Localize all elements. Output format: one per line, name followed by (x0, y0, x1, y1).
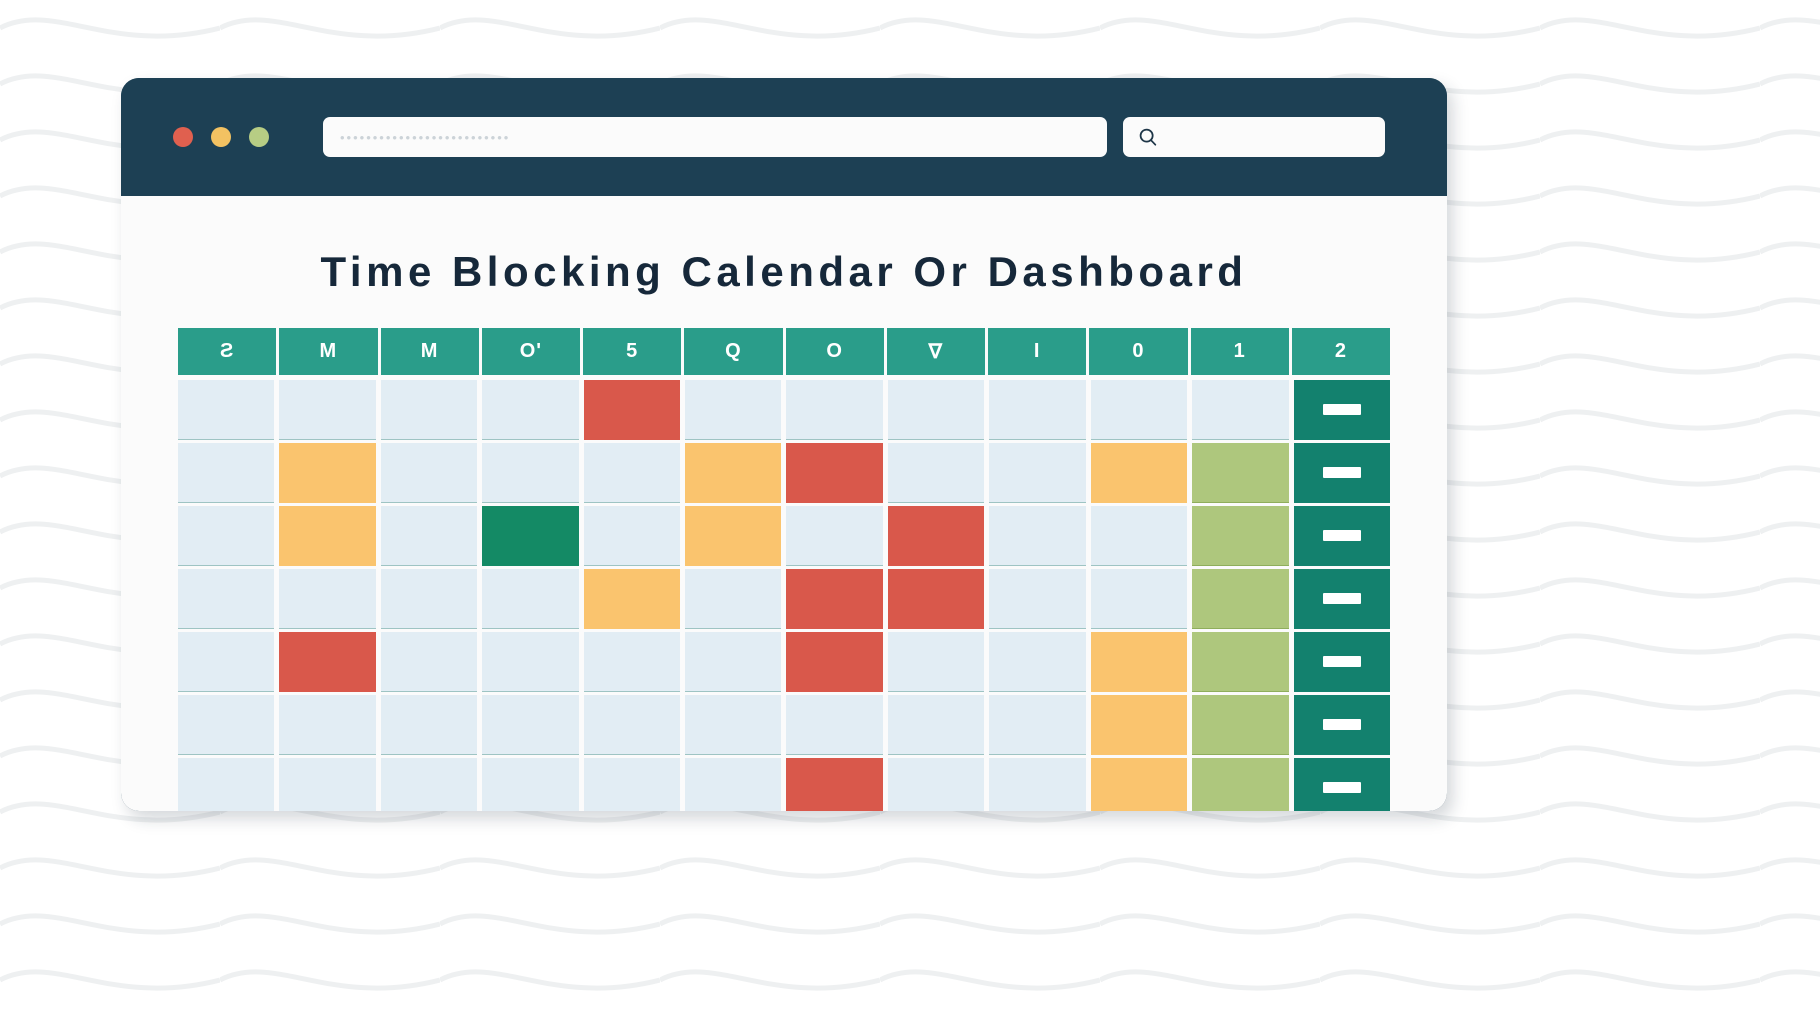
calendar-cell-r3-c9[interactable] (1091, 569, 1187, 629)
calendar-cell-r1-c7[interactable] (888, 443, 984, 503)
calendar-header-cell-3[interactable]: O' (482, 328, 580, 375)
calendar-cell-r4-c4[interactable] (584, 632, 680, 692)
calendar-cell-r0-c4[interactable] (584, 380, 680, 440)
calendar-header-cell-10[interactable]: 1 (1191, 328, 1289, 375)
calendar-cell-r6-c11[interactable] (1294, 758, 1390, 811)
calendar-header-cell-1[interactable]: M (279, 328, 377, 375)
calendar-cell-r0-c8[interactable] (989, 380, 1085, 440)
calendar-cell-r6-c6[interactable] (786, 758, 882, 811)
calendar-cell-r4-c0[interactable] (178, 632, 274, 692)
calendar-cell-r1-c11[interactable] (1294, 443, 1390, 503)
calendar-header-cell-4[interactable]: 5 (583, 328, 681, 375)
calendar-cell-r6-c4[interactable] (584, 758, 680, 811)
calendar-cell-r0-c7[interactable] (888, 380, 984, 440)
calendar-cell-r2-c0[interactable] (178, 506, 274, 566)
calendar-cell-r5-c10[interactable] (1192, 695, 1288, 755)
calendar-cell-r3-c1[interactable] (279, 569, 375, 629)
calendar-cell-r2-c10[interactable] (1192, 506, 1288, 566)
calendar-cell-r6-c0[interactable] (178, 758, 274, 811)
calendar-cell-r1-c6[interactable] (786, 443, 882, 503)
calendar-cell-r3-c7[interactable] (888, 569, 984, 629)
url-input[interactable]: •••••••••••••••••••••••••• (323, 117, 1107, 157)
calendar-cell-r1-c4[interactable] (584, 443, 680, 503)
calendar-cell-r0-c9[interactable] (1091, 380, 1187, 440)
calendar-cell-r0-c3[interactable] (482, 380, 578, 440)
teal-marker-dash (1323, 404, 1361, 415)
calendar-cell-r4-c6[interactable] (786, 632, 882, 692)
calendar-cell-r5-c5[interactable] (685, 695, 781, 755)
calendar-cell-r6-c3[interactable] (482, 758, 578, 811)
calendar-cell-r4-c8[interactable] (989, 632, 1085, 692)
maximize-window-button[interactable] (249, 127, 269, 147)
time-blocking-calendar: ƧMMO'5QO∇I012 (178, 328, 1390, 811)
calendar-cell-r0-c5[interactable] (685, 380, 781, 440)
calendar-cell-r3-c10[interactable] (1192, 569, 1288, 629)
calendar-cell-r5-c6[interactable] (786, 695, 882, 755)
calendar-header-cell-9[interactable]: 0 (1089, 328, 1187, 375)
calendar-cell-r3-c6[interactable] (786, 569, 882, 629)
browser-window: •••••••••••••••••••••••••• Time Blocking… (121, 78, 1447, 811)
calendar-cell-r0-c11[interactable] (1294, 380, 1390, 440)
calendar-cell-r6-c8[interactable] (989, 758, 1085, 811)
calendar-cell-r5-c11[interactable] (1294, 695, 1390, 755)
calendar-cell-r1-c9[interactable] (1091, 443, 1187, 503)
page-title: Time Blocking Calendar Or Dashboard (173, 248, 1395, 296)
calendar-cell-r2-c6[interactable] (786, 506, 882, 566)
calendar-cell-r3-c11[interactable] (1294, 569, 1390, 629)
calendar-cell-r2-c8[interactable] (989, 506, 1085, 566)
calendar-cell-r6-c2[interactable] (381, 758, 477, 811)
calendar-cell-r4-c7[interactable] (888, 632, 984, 692)
calendar-cell-r1-c3[interactable] (482, 443, 578, 503)
calendar-cell-r2-c5[interactable] (685, 506, 781, 566)
teal-marker-dash (1323, 593, 1361, 604)
calendar-cell-r2-c7[interactable] (888, 506, 984, 566)
calendar-column-headers: ƧMMO'5QO∇I012 (178, 328, 1390, 375)
url-placeholder-text: •••••••••••••••••••••••••• (340, 130, 510, 145)
calendar-cell-r4-c2[interactable] (381, 632, 477, 692)
calendar-cell-r1-c2[interactable] (381, 443, 477, 503)
page-content: Time Blocking Calendar Or Dashboard ƧMMO… (121, 196, 1447, 811)
calendar-header-cell-11[interactable]: 2 (1292, 328, 1390, 375)
calendar-cell-r6-c5[interactable] (685, 758, 781, 811)
calendar-cell-r2-c3[interactable] (482, 506, 578, 566)
teal-marker-dash (1323, 782, 1361, 793)
calendar-cell-r3-c8[interactable] (989, 569, 1085, 629)
calendar-header-cell-2[interactable]: M (381, 328, 479, 375)
traffic-light-buttons (173, 127, 269, 147)
calendar-cell-r2-c1[interactable] (279, 506, 375, 566)
calendar-cell-r5-c4[interactable] (584, 695, 680, 755)
teal-marker-dash (1323, 530, 1361, 541)
calendar-cell-r5-c7[interactable] (888, 695, 984, 755)
calendar-cell-r1-c0[interactable] (178, 443, 274, 503)
calendar-header-cell-0[interactable]: Ƨ (178, 328, 276, 375)
teal-marker-dash (1323, 719, 1361, 730)
calendar-cell-r3-c3[interactable] (482, 569, 578, 629)
calendar-cell-r4-c11[interactable] (1294, 632, 1390, 692)
close-window-button[interactable] (173, 127, 193, 147)
calendar-cell-r4-c3[interactable] (482, 632, 578, 692)
calendar-cell-r0-c10[interactable] (1192, 380, 1288, 440)
calendar-cell-r6-c7[interactable] (888, 758, 984, 811)
calendar-grid-body (178, 380, 1390, 811)
calendar-cell-r3-c2[interactable] (381, 569, 477, 629)
calendar-cell-r6-c1[interactable] (279, 758, 375, 811)
calendar-cell-r0-c2[interactable] (381, 380, 477, 440)
teal-marker-dash (1323, 656, 1361, 667)
calendar-cell-r5-c1[interactable] (279, 695, 375, 755)
calendar-cell-r1-c8[interactable] (989, 443, 1085, 503)
calendar-cell-r5-c2[interactable] (381, 695, 477, 755)
calendar-cell-r2-c11[interactable] (1294, 506, 1390, 566)
calendar-cell-r4-c5[interactable] (685, 632, 781, 692)
calendar-cell-r5-c8[interactable] (989, 695, 1085, 755)
calendar-cell-r2-c9[interactable] (1091, 506, 1187, 566)
search-input[interactable] (1123, 117, 1385, 157)
minimize-window-button[interactable] (211, 127, 231, 147)
calendar-header-cell-7[interactable]: ∇ (887, 328, 985, 375)
calendar-cell-r1-c1[interactable] (279, 443, 375, 503)
calendar-cell-r6-c9[interactable] (1091, 758, 1187, 811)
calendar-cell-r1-c10[interactable] (1192, 443, 1288, 503)
calendar-cell-r4-c9[interactable] (1091, 632, 1187, 692)
calendar-cell-r6-c10[interactable] (1192, 758, 1288, 811)
calendar-cell-r5-c9[interactable] (1091, 695, 1187, 755)
calendar-cell-r2-c4[interactable] (584, 506, 680, 566)
search-icon (1137, 126, 1159, 148)
teal-marker-dash (1323, 467, 1361, 478)
calendar-header-cell-6[interactable]: O (786, 328, 884, 375)
calendar-cell-r4-c10[interactable] (1192, 632, 1288, 692)
browser-titlebar: •••••••••••••••••••••••••• (121, 78, 1447, 196)
calendar-cell-r3-c4[interactable] (584, 569, 680, 629)
calendar-cell-r4-c1[interactable] (279, 632, 375, 692)
calendar-cell-r0-c1[interactable] (279, 380, 375, 440)
calendar-cell-r3-c0[interactable] (178, 569, 274, 629)
calendar-cell-r5-c3[interactable] (482, 695, 578, 755)
calendar-cell-r5-c0[interactable] (178, 695, 274, 755)
calendar-cell-r2-c2[interactable] (381, 506, 477, 566)
calendar-cell-r3-c5[interactable] (685, 569, 781, 629)
calendar-cell-r0-c0[interactable] (178, 380, 274, 440)
calendar-cell-r1-c5[interactable] (685, 443, 781, 503)
calendar-header-cell-5[interactable]: Q (684, 328, 782, 375)
calendar-header-cell-8[interactable]: I (988, 328, 1086, 375)
calendar-cell-r0-c6[interactable] (786, 380, 882, 440)
